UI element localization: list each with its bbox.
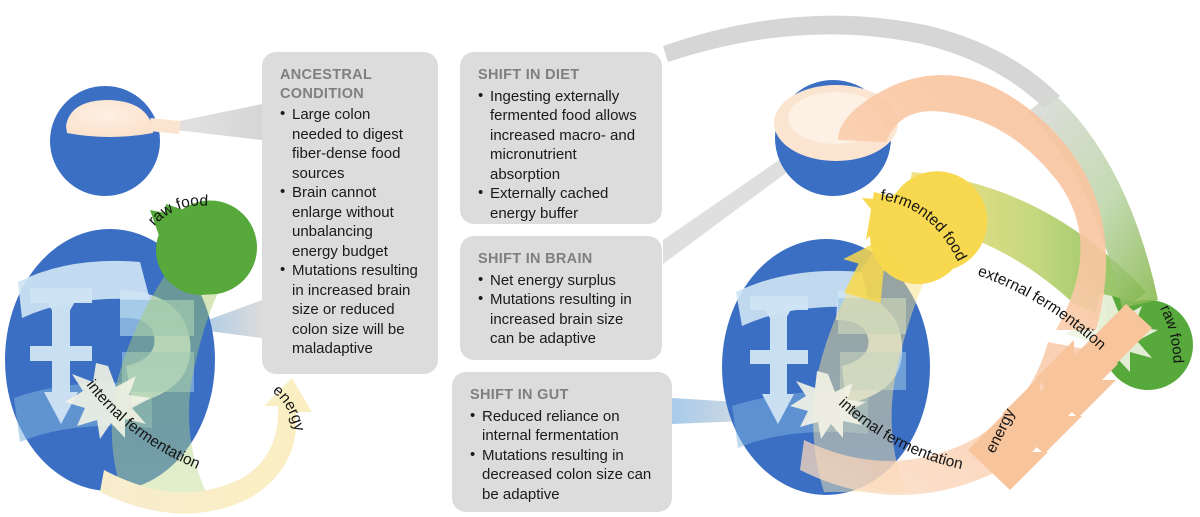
list-item: Brain cannot enlarge without unbalancing… <box>280 183 422 261</box>
callout-bullet-list: Ingesting externally fermented food allo… <box>478 87 646 224</box>
callout-bullet-list: Large colon needed to digest fiber-dense… <box>280 105 422 359</box>
right-figure-group: fermented food external fermentation raw… <box>663 16 1193 495</box>
list-item: Externally cached energy buffer <box>478 184 646 223</box>
list-item: Large colon needed to digest fiber-dense… <box>280 105 422 183</box>
callout-shift-in-diet: SHIFT IN DIET Ingesting externally ferme… <box>460 52 662 224</box>
connector-brain-to-head <box>663 158 790 264</box>
callout-heading: SHIFT IN BRAIN <box>478 250 646 269</box>
figure-canvas: raw food internal fermentation energy <box>0 0 1200 517</box>
callout-shift-in-brain: SHIFT IN BRAIN Net energy surplus Mutati… <box>460 236 662 360</box>
energy-chevron-arrows <box>968 304 1152 490</box>
list-item: Mutations resulting in increased brain s… <box>280 261 422 359</box>
callout-shift-in-gut: SHIFT IN GUT Reduced reliance on interna… <box>452 372 672 512</box>
list-item: Net energy surplus <box>478 271 646 291</box>
callout-ancestral-condition: ANCESTRAL CONDITION Large colon needed t… <box>262 52 438 374</box>
callout-bullet-list: Net energy surplus Mutations resulting i… <box>478 271 646 349</box>
callout-heading: SHIFT IN DIET <box>478 66 646 85</box>
callout-heading: SHIFT IN GUT <box>470 386 656 405</box>
list-item: Reduced reliance on internal fermentatio… <box>470 407 656 446</box>
list-item: Ingesting externally fermented food allo… <box>478 87 646 185</box>
callout-heading: ANCESTRAL CONDITION <box>280 66 422 103</box>
list-item: Mutations resulting in increased brain s… <box>478 290 646 349</box>
callout-bullet-list: Reduced reliance on internal fermentatio… <box>470 407 656 505</box>
list-item: Mutations resulting in decreased colon s… <box>470 446 656 505</box>
